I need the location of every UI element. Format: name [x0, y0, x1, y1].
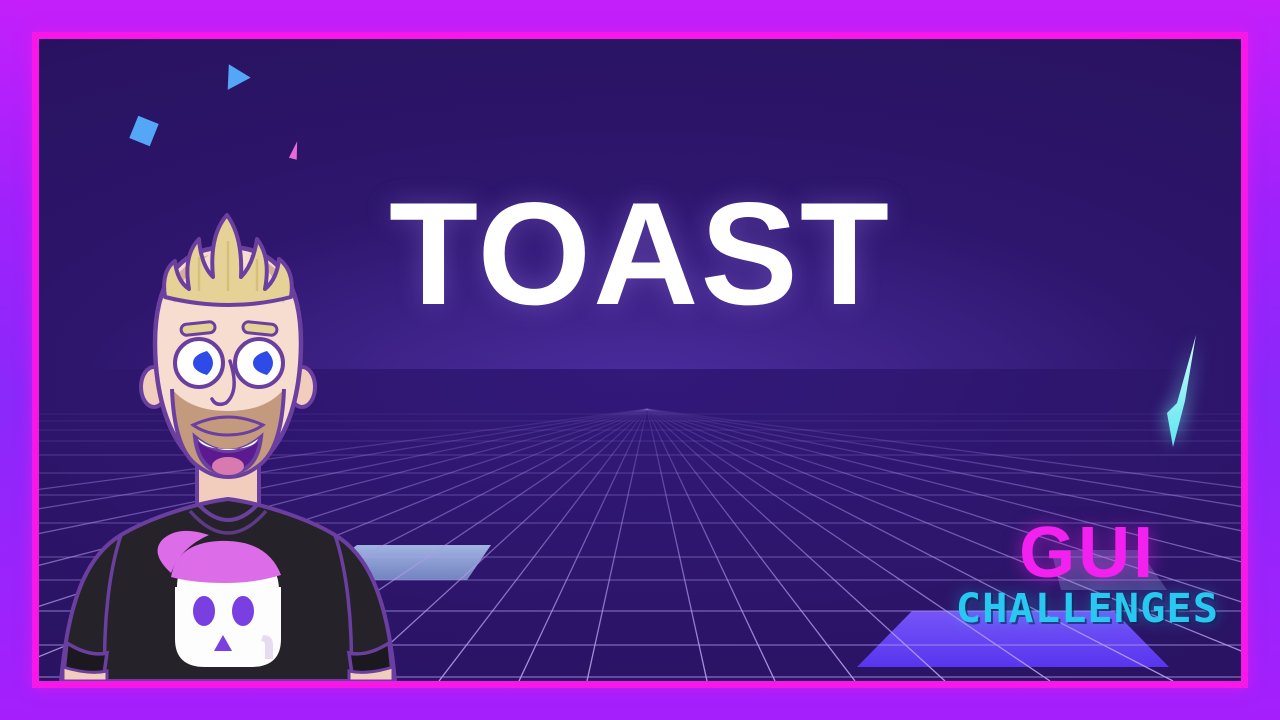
avatar-illustration [47, 211, 417, 681]
avatar-head [141, 215, 315, 477]
skull-logo-icon [158, 531, 281, 667]
neon-frame-border: TOAST [32, 32, 1248, 688]
gui-challenges-logo: GUI CHALLENGES [962, 519, 1213, 629]
brand-gui-text: GUI [962, 519, 1213, 587]
title-card-stage: TOAST [0, 0, 1280, 720]
confetti-square-blue [129, 116, 158, 146]
brand-challenges-text: CHALLENGES [956, 589, 1219, 629]
cyan-spark-shard-icon [1151, 331, 1221, 451]
avatar [47, 211, 417, 681]
confetti-triangle-blue-top [217, 58, 250, 90]
scene: TOAST [39, 39, 1241, 681]
confetti-sliver-pink [289, 140, 301, 159]
